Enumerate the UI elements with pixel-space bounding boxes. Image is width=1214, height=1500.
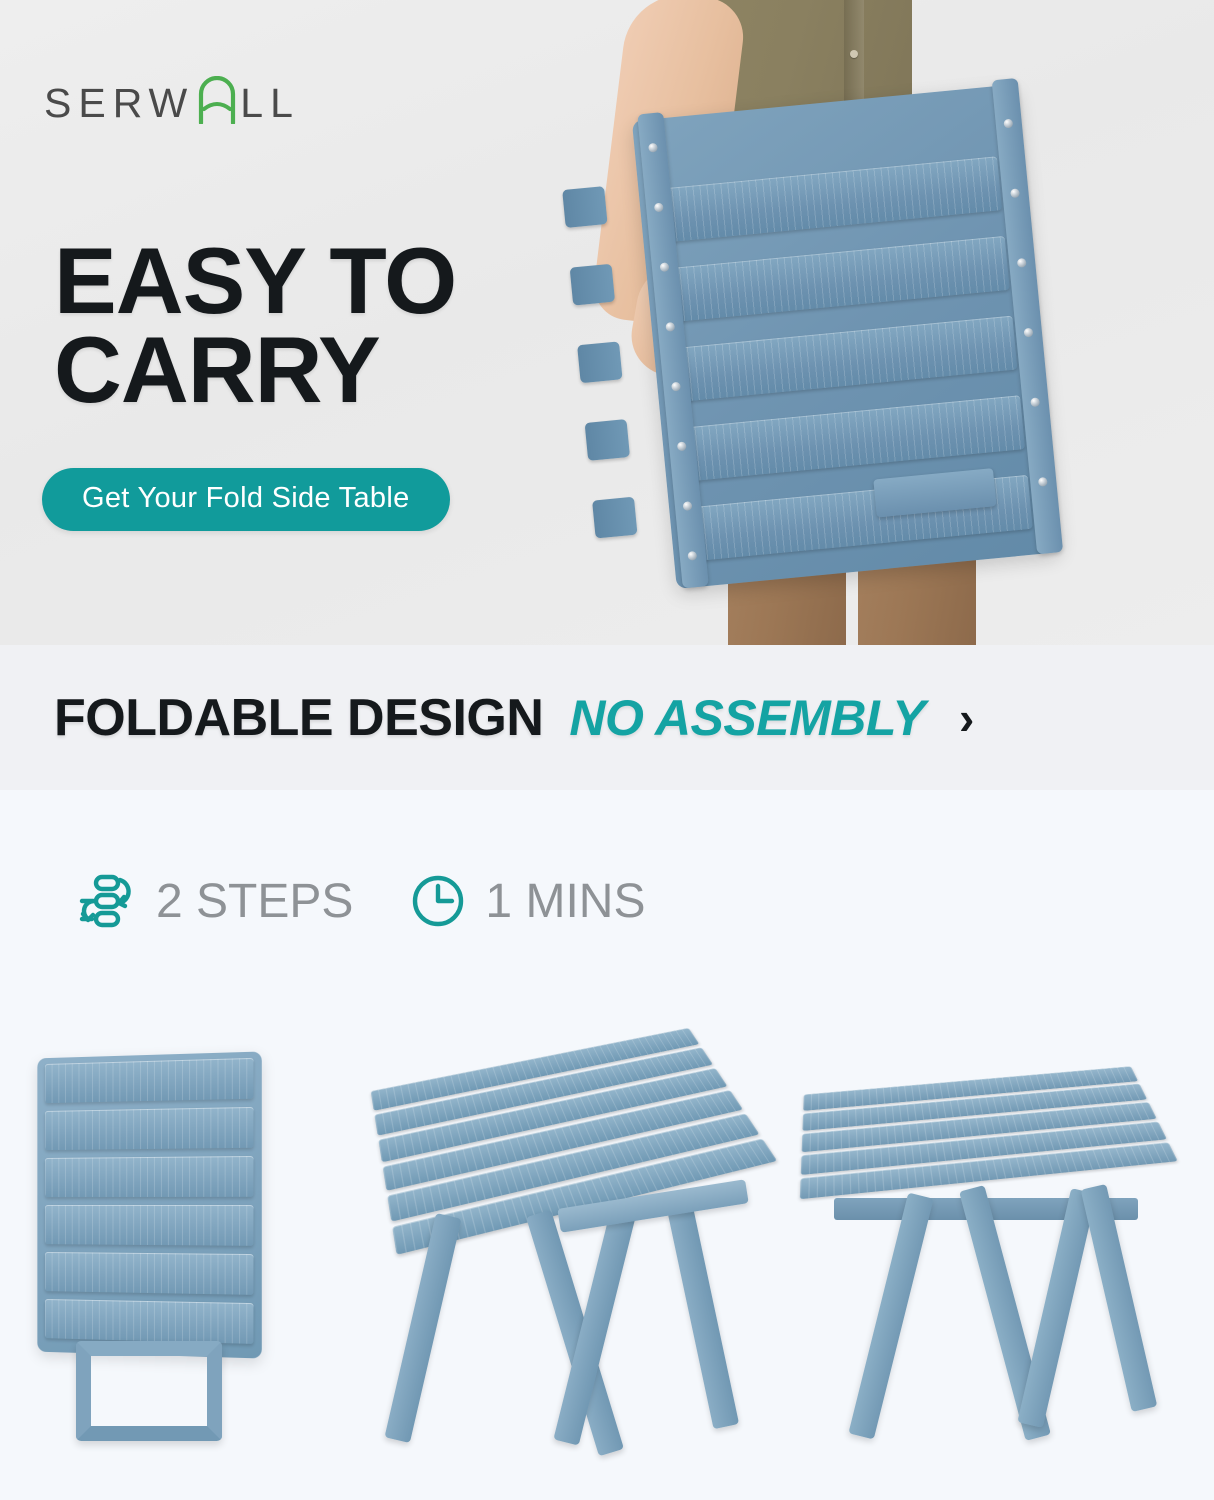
headline-line-2: CARRY — [54, 325, 456, 414]
meta-label-steps: 2 STEPS — [156, 874, 353, 929]
meta-item-steps: 2 STEPS — [78, 870, 353, 932]
meta-item-time: 1 MINS — [407, 870, 645, 932]
foldable-design-banner: FOLDABLE DESIGN NO ASSEMBLY › — [0, 645, 1214, 790]
folded-table-held — [589, 71, 1095, 613]
assembly-meta-row: 2 STEPS 1 MINS — [78, 870, 699, 932]
headline-line-1: EASY TO — [54, 236, 456, 325]
assembled-table — [806, 1080, 1196, 1480]
logo-text-right: LL — [240, 83, 300, 124]
hero-section: SERW LL EASY TO CARRY Get Your Fold Side… — [0, 0, 1214, 645]
process-steps-icon — [78, 870, 140, 932]
chevron-right-icon: › — [959, 691, 974, 745]
clock-icon — [407, 870, 469, 932]
brand-logo[interactable]: SERW LL — [44, 76, 300, 124]
folded-legs — [76, 1341, 222, 1441]
assembly-steps-section: 2 STEPS 1 MINS — [0, 790, 1214, 1500]
cta-button[interactable]: Get Your Fold Side Table — [42, 468, 450, 531]
hero-product-photo — [600, 0, 1214, 645]
folded-table — [20, 1055, 275, 1445]
meta-label-time: 1 MINS — [485, 874, 645, 929]
banner-text-primary: FOLDABLE DESIGN — [54, 688, 543, 748]
banner-text-accent: NO ASSEMBLY — [569, 689, 925, 747]
page-title: EASY TO CARRY — [54, 236, 456, 415]
logo-arch-a-icon — [197, 76, 237, 124]
unfolding-table — [372, 1058, 752, 1478]
logo-text-left: SERW — [44, 83, 194, 124]
